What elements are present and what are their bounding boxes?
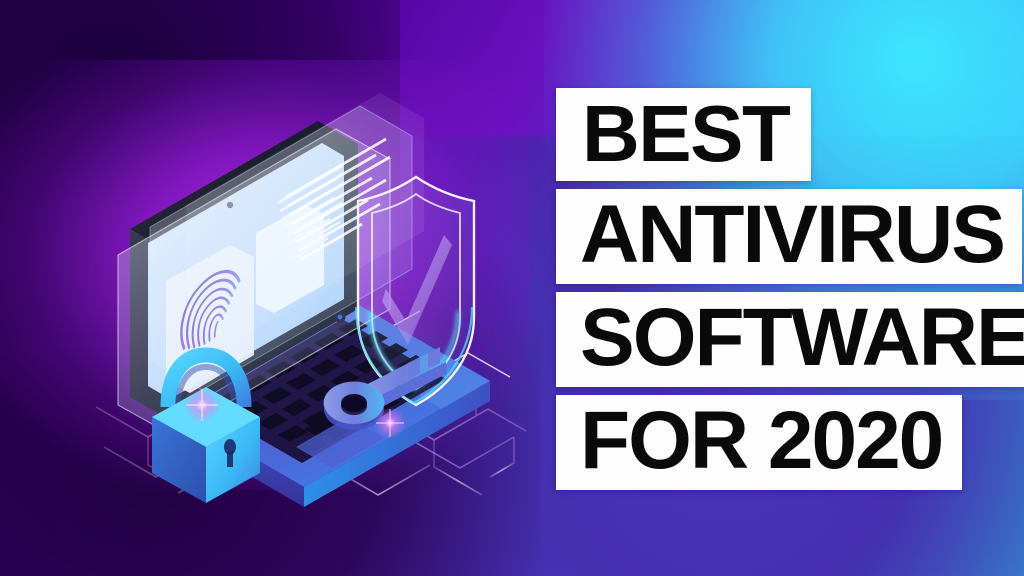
cybersecurity-illustration xyxy=(90,55,530,525)
headline-line-1: BEST xyxy=(556,88,811,181)
headline-line-2: ANTIVIRUS xyxy=(556,189,1022,284)
headline-line-4: FOR 2020 xyxy=(556,395,962,490)
headline-line-3: SOFTWARE xyxy=(556,292,1024,387)
headline-block: BEST ANTIVIRUS SOFTWARE FOR 2020 xyxy=(556,88,1024,490)
poster-canvas: BEST ANTIVIRUS SOFTWARE FOR 2020 xyxy=(0,0,1024,576)
